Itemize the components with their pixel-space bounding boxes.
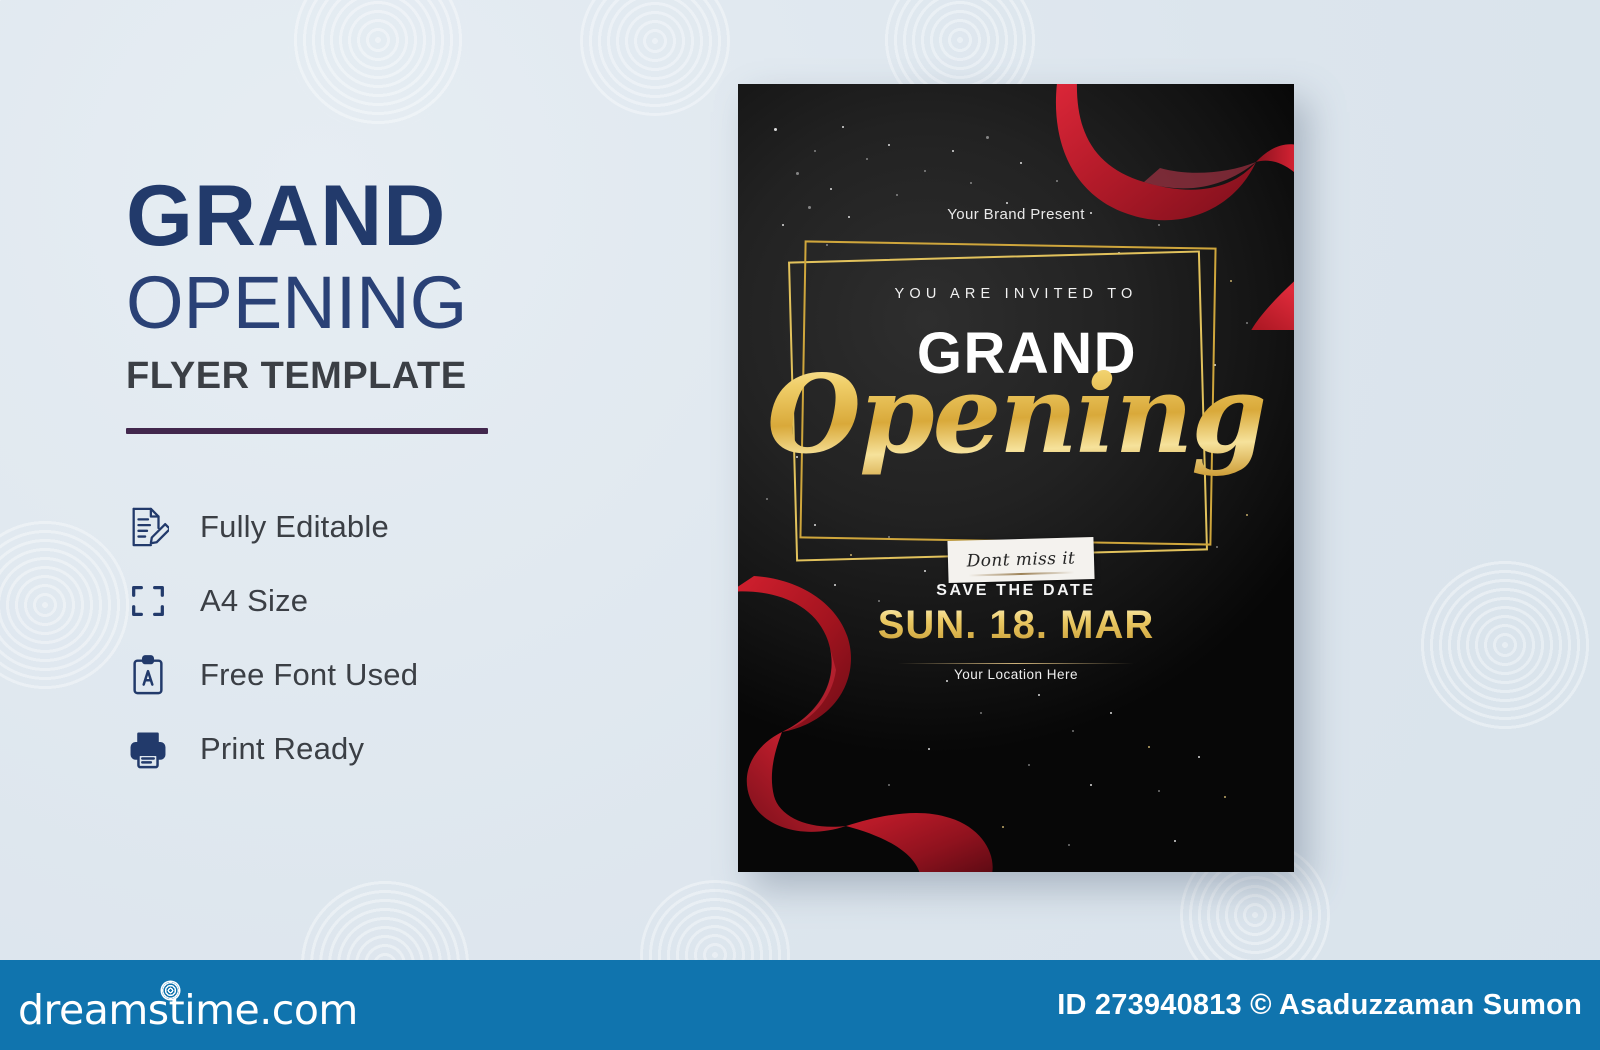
feature-item-free-font: Free Font Used	[126, 638, 646, 712]
document-edit-icon	[126, 504, 170, 550]
feature-item-print-ready: Print Ready	[126, 712, 646, 786]
crop-frame-icon	[126, 578, 170, 624]
watermark-spiral	[580, 0, 730, 116]
image-credit-text: ID 273940813 © Asaduzzaman Sumon	[1057, 989, 1582, 1022]
flyer-preview[interactable]: Your Brand Present YOU ARE INVITED TO GR…	[738, 84, 1294, 872]
feature-label: Print Ready	[200, 731, 364, 767]
flyer-dont-miss-badge: Dont miss it	[947, 537, 1094, 583]
page-title-opening: OPENING	[126, 264, 646, 342]
feature-label: Fully Editable	[200, 509, 389, 545]
clipboard-font-icon	[126, 652, 170, 698]
title-divider	[126, 428, 488, 434]
dreamstime-logo[interactable]: dreamstime.com	[18, 986, 358, 1034]
page-subtitle: FLYER TEMPLATE	[126, 355, 646, 398]
feature-item-a4-size: A4 Size	[126, 564, 646, 638]
flyer-brand-text: Your Brand Present	[738, 206, 1294, 223]
page-title-grand: GRAND	[126, 175, 646, 258]
flyer-location: Your Location Here	[738, 667, 1294, 682]
flyer-divider	[898, 663, 1134, 664]
feature-item-fully-editable: Fully Editable	[126, 490, 646, 564]
printer-icon	[126, 726, 170, 772]
badge-swash	[968, 572, 1074, 577]
flyer-badge-text: Dont miss it	[966, 548, 1075, 571]
feature-label: A4 Size	[200, 583, 308, 619]
watermark-spiral	[0, 520, 130, 690]
dreamstime-spiral-icon	[162, 982, 179, 999]
feature-list: Fully Editable A4 Size Free Font Used	[126, 490, 646, 786]
info-panel: GRAND OPENING FLYER TEMPLATE Fully Edita…	[126, 175, 646, 786]
flyer-save-the-date: SAVE THE DATE	[738, 582, 1294, 600]
flyer-date: SUN. 18. MAR	[738, 603, 1294, 648]
footer-bar: dreamstime.com ID 273940813 © Asaduzzama…	[0, 960, 1600, 1050]
flyer-headline-opening: Opening	[738, 352, 1294, 478]
watermark-spiral	[1420, 560, 1590, 730]
flyer-canvas: Your Brand Present YOU ARE INVITED TO GR…	[738, 84, 1294, 872]
feature-label: Free Font Used	[200, 657, 418, 693]
flyer-invited-text: YOU ARE INVITED TO	[738, 286, 1294, 302]
watermark-spiral	[288, 0, 468, 130]
